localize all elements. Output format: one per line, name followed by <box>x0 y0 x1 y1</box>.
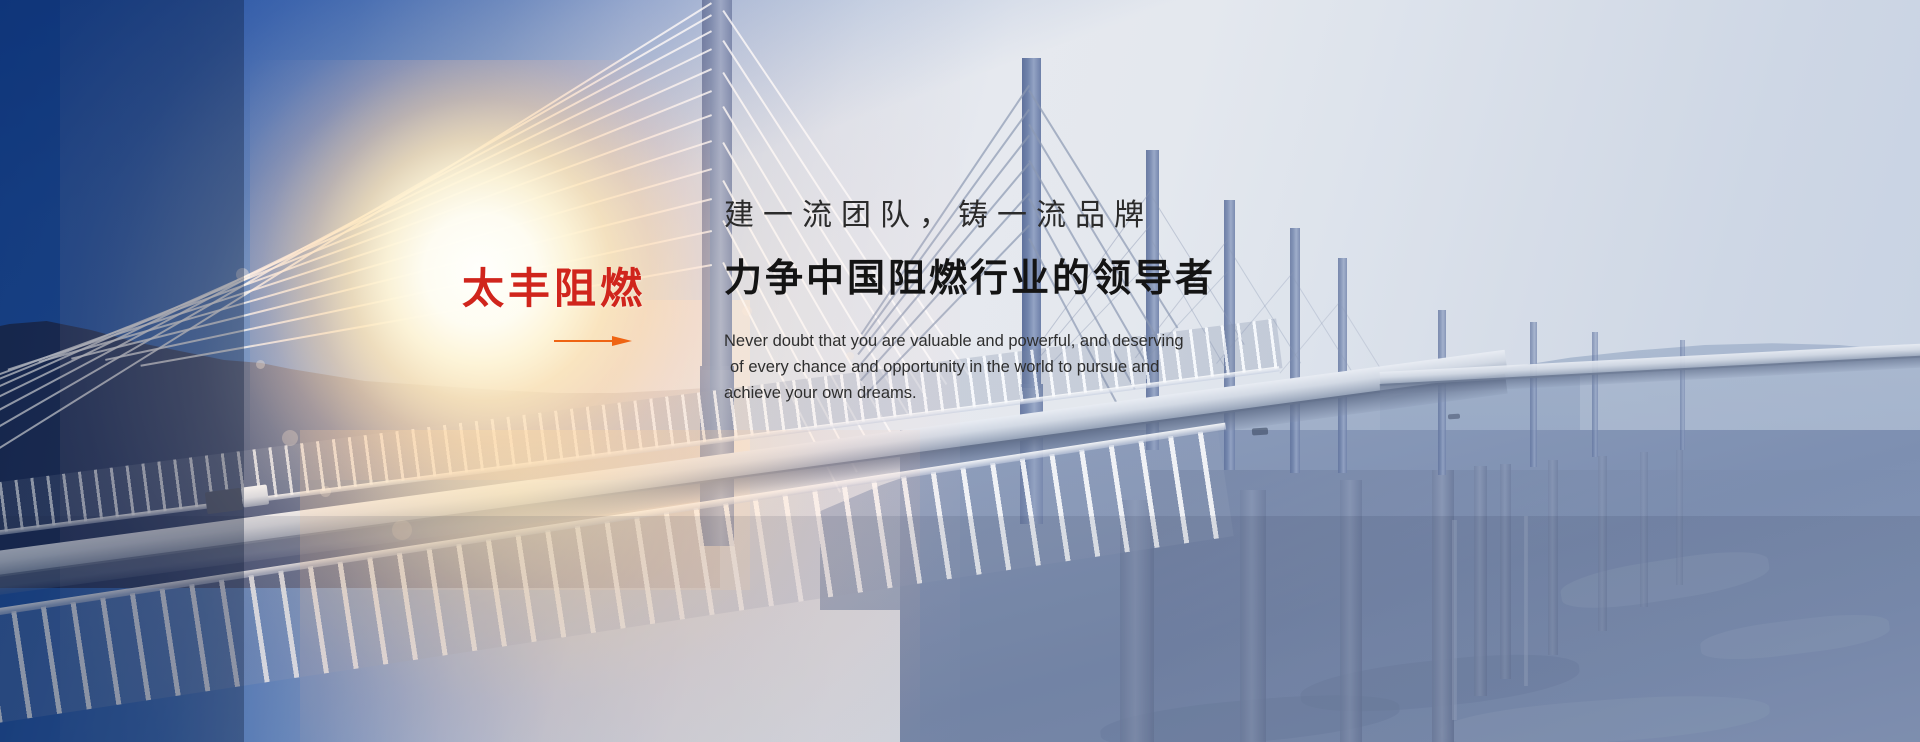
description-line-1: Never doubt that you are valuable and po… <box>724 332 1184 350</box>
description-line-2: of every chance and opportunity in the w… <box>724 354 1194 380</box>
headline-subtitle: 建一流团队，铸一流品牌 <box>724 198 1324 234</box>
page-title: 力争中国阻燃行业的领导者 <box>724 256 1324 302</box>
banner-copy: 建一流团队，铸一流品牌 力争中国阻燃行业的领导者 Never doubt tha… <box>724 198 1324 406</box>
arrow-right-icon <box>554 336 632 346</box>
description-line-3: achieve your own dreams. <box>724 384 917 402</box>
brand-logo[interactable]: 太丰阻燃 <box>462 268 652 346</box>
hero-banner: 太丰阻燃 建一流团队，铸一流品牌 力争中国阻燃行业的领导者 Never doub… <box>0 0 1920 742</box>
brand-logo-text: 太丰阻燃 <box>462 268 652 310</box>
banner-content: 太丰阻燃 建一流团队，铸一流品牌 力争中国阻燃行业的领导者 Never doub… <box>0 0 1920 742</box>
arrow-shaft <box>554 340 620 342</box>
banner-description: Never doubt that you are valuable and po… <box>724 328 1194 406</box>
arrow-head <box>612 336 632 346</box>
